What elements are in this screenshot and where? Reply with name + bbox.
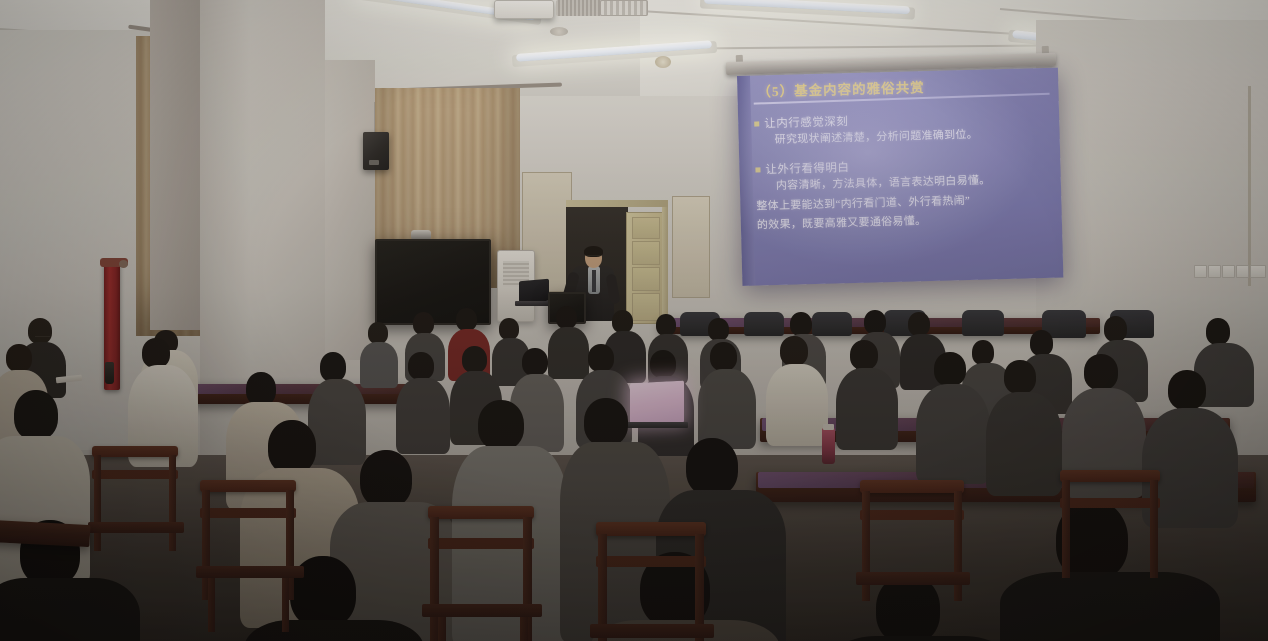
eyeglasses-icon bbox=[35, 336, 50, 341]
laptop-lid bbox=[519, 279, 549, 304]
tumbler bbox=[105, 362, 114, 384]
wall-speaker bbox=[363, 132, 389, 170]
wall-socket[interactable] bbox=[1222, 265, 1235, 278]
bullet-marker-icon bbox=[755, 167, 760, 172]
presenter-glasses-icon bbox=[586, 255, 601, 260]
ceiling-projector bbox=[494, 0, 554, 19]
door-inset bbox=[632, 217, 660, 239]
structural-pillar-mid bbox=[325, 60, 375, 360]
bullet-marker-icon bbox=[754, 121, 759, 126]
air-conditioner-vent bbox=[600, 0, 648, 16]
right-wall bbox=[1036, 20, 1268, 350]
presenter-tie bbox=[592, 270, 596, 292]
slide-bullet-2-head: 让外行看得明白 bbox=[765, 159, 849, 177]
ceiling-speaker-icon bbox=[655, 56, 671, 68]
thermos-flask bbox=[822, 428, 835, 464]
wall-socket[interactable] bbox=[1250, 265, 1266, 278]
slide-title: （5）基金内容的雅俗共赏 bbox=[757, 73, 1047, 101]
projection-screen: （5）基金内容的雅俗共赏 让内行感觉深刻 研究现状阐述清楚，分析问题准确到位。 … bbox=[737, 68, 1063, 286]
audience-laptop-screen[interactable] bbox=[630, 381, 684, 426]
wall-socket[interactable] bbox=[1194, 265, 1207, 278]
slide-bullet-1-head: 让内行感觉深刻 bbox=[764, 113, 848, 131]
office-chair[interactable] bbox=[812, 312, 852, 336]
office-chair[interactable] bbox=[962, 310, 1004, 336]
lecture-hall-scene: （5）基金内容的雅俗共赏 让内行感觉深刻 研究现状阐述清楚，分析问题准确到位。 … bbox=[0, 0, 1268, 641]
wall-socket[interactable] bbox=[1208, 265, 1221, 278]
thermos-cap bbox=[823, 424, 834, 430]
door-panel[interactable] bbox=[626, 212, 664, 324]
office-chair[interactable] bbox=[744, 312, 784, 336]
slide-body: 让内行感觉深刻 研究现状阐述清楚，分析问题准确到位。 让外行看得明白 内容清晰，… bbox=[754, 104, 1057, 235]
wall-cabinet bbox=[672, 196, 710, 298]
door-inset bbox=[632, 267, 660, 291]
door-inset bbox=[632, 293, 660, 321]
wall-socket[interactable] bbox=[1236, 265, 1249, 278]
door-frame bbox=[662, 206, 668, 318]
speaker-logo bbox=[369, 160, 379, 165]
door-frame bbox=[1248, 86, 1251, 286]
fire-hose-valve bbox=[119, 260, 128, 268]
door-header bbox=[566, 200, 668, 207]
door-inset bbox=[632, 241, 660, 265]
audience-laptop-base bbox=[624, 422, 688, 428]
smoke-detector-icon bbox=[550, 27, 568, 36]
